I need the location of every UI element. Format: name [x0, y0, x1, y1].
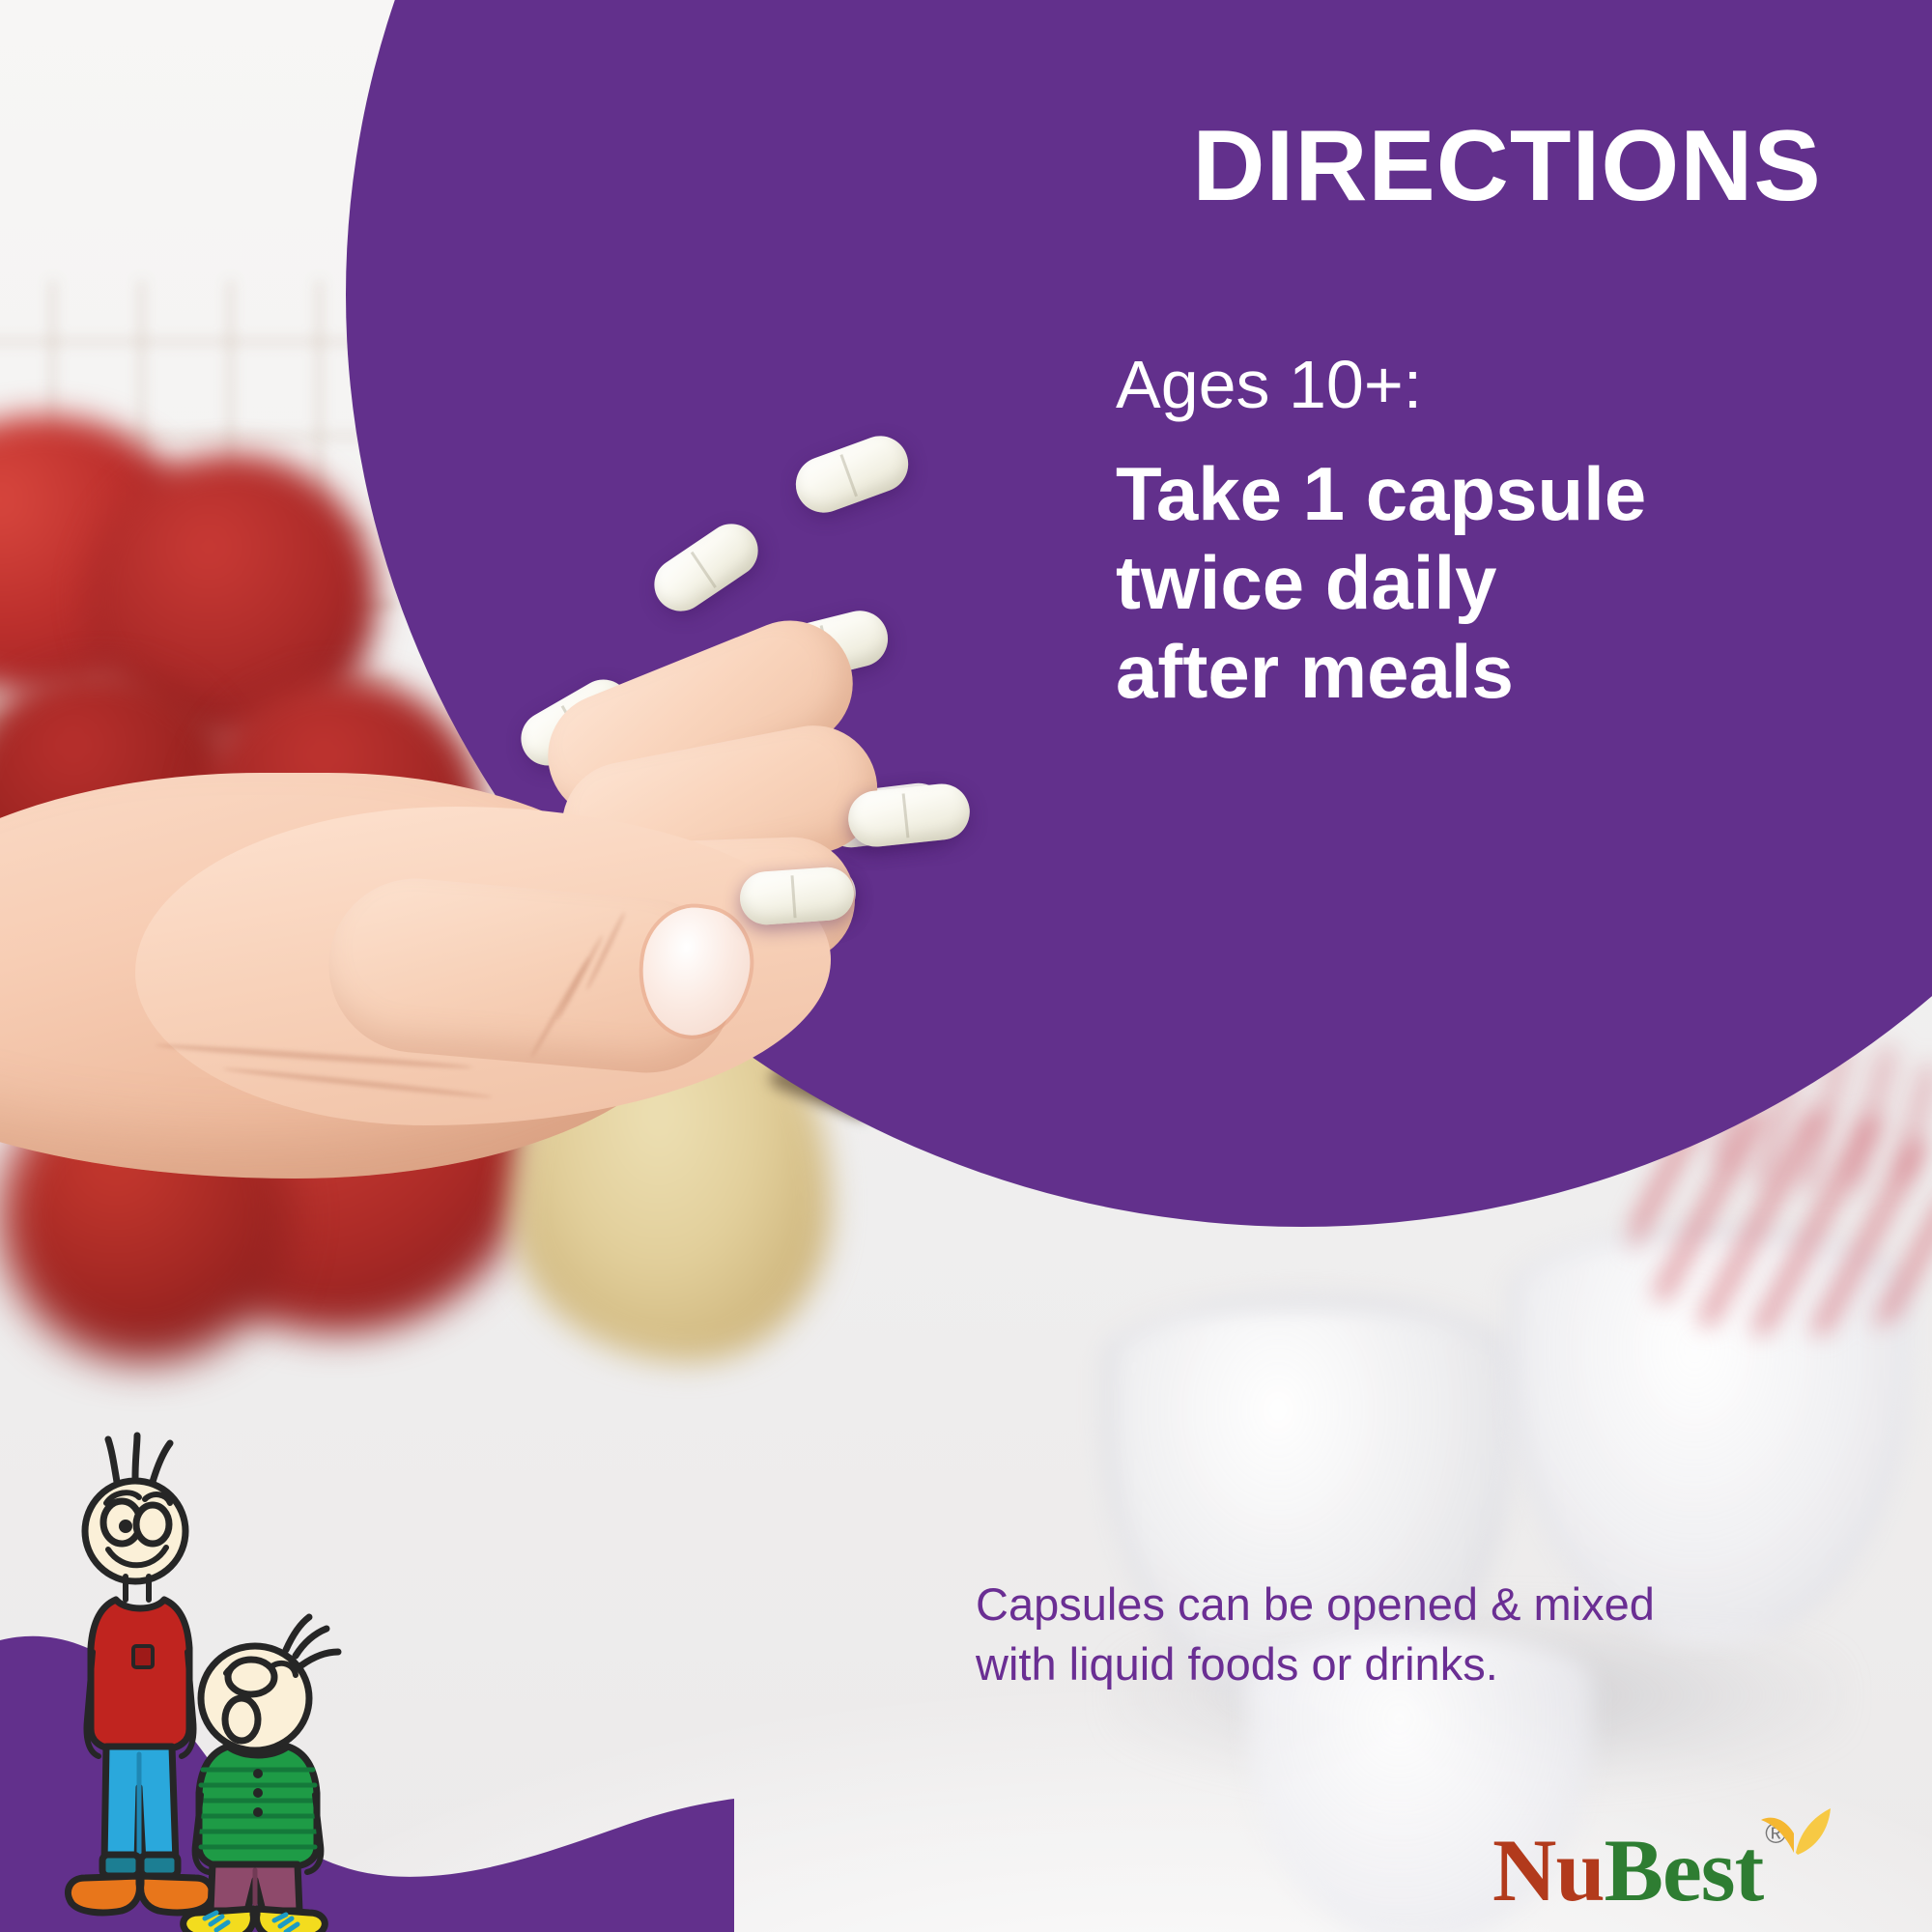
age-label: Ages 10+:	[1116, 348, 1898, 422]
cartoon-kids	[58, 1430, 386, 1932]
instruction-text: Take 1 capsule twice daily after meals	[1116, 449, 1898, 716]
note-line-1: Capsules can be opened & mixed	[976, 1575, 1826, 1634]
instruction-line-3: after meals	[1116, 627, 1898, 716]
note-line-2: with liquid foods or drinks.	[976, 1634, 1826, 1694]
sprout-leaf-icon	[1751, 1795, 1834, 1857]
hand	[0, 599, 1101, 1275]
instruction-line-1: Take 1 capsule	[1116, 449, 1898, 538]
capsule-10	[738, 866, 856, 926]
copy-block: DIRECTIONS Ages 10+: Take 1 capsule twic…	[1116, 116, 1898, 716]
nubest-logo: Nu Best ®	[1492, 1799, 1898, 1915]
mixing-note: Capsules can be opened & mixed with liqu…	[976, 1575, 1826, 1694]
logo-text-best: Best	[1605, 1826, 1764, 1915]
logo-text-nu: Nu	[1492, 1826, 1605, 1915]
instruction-line-2: twice daily	[1116, 538, 1898, 627]
kid-tall	[68, 1435, 212, 1913]
ad-canvas: DIRECTIONS Ages 10+: Take 1 capsule twic…	[0, 0, 1932, 1932]
page-title: DIRECTIONS	[1116, 116, 1898, 216]
